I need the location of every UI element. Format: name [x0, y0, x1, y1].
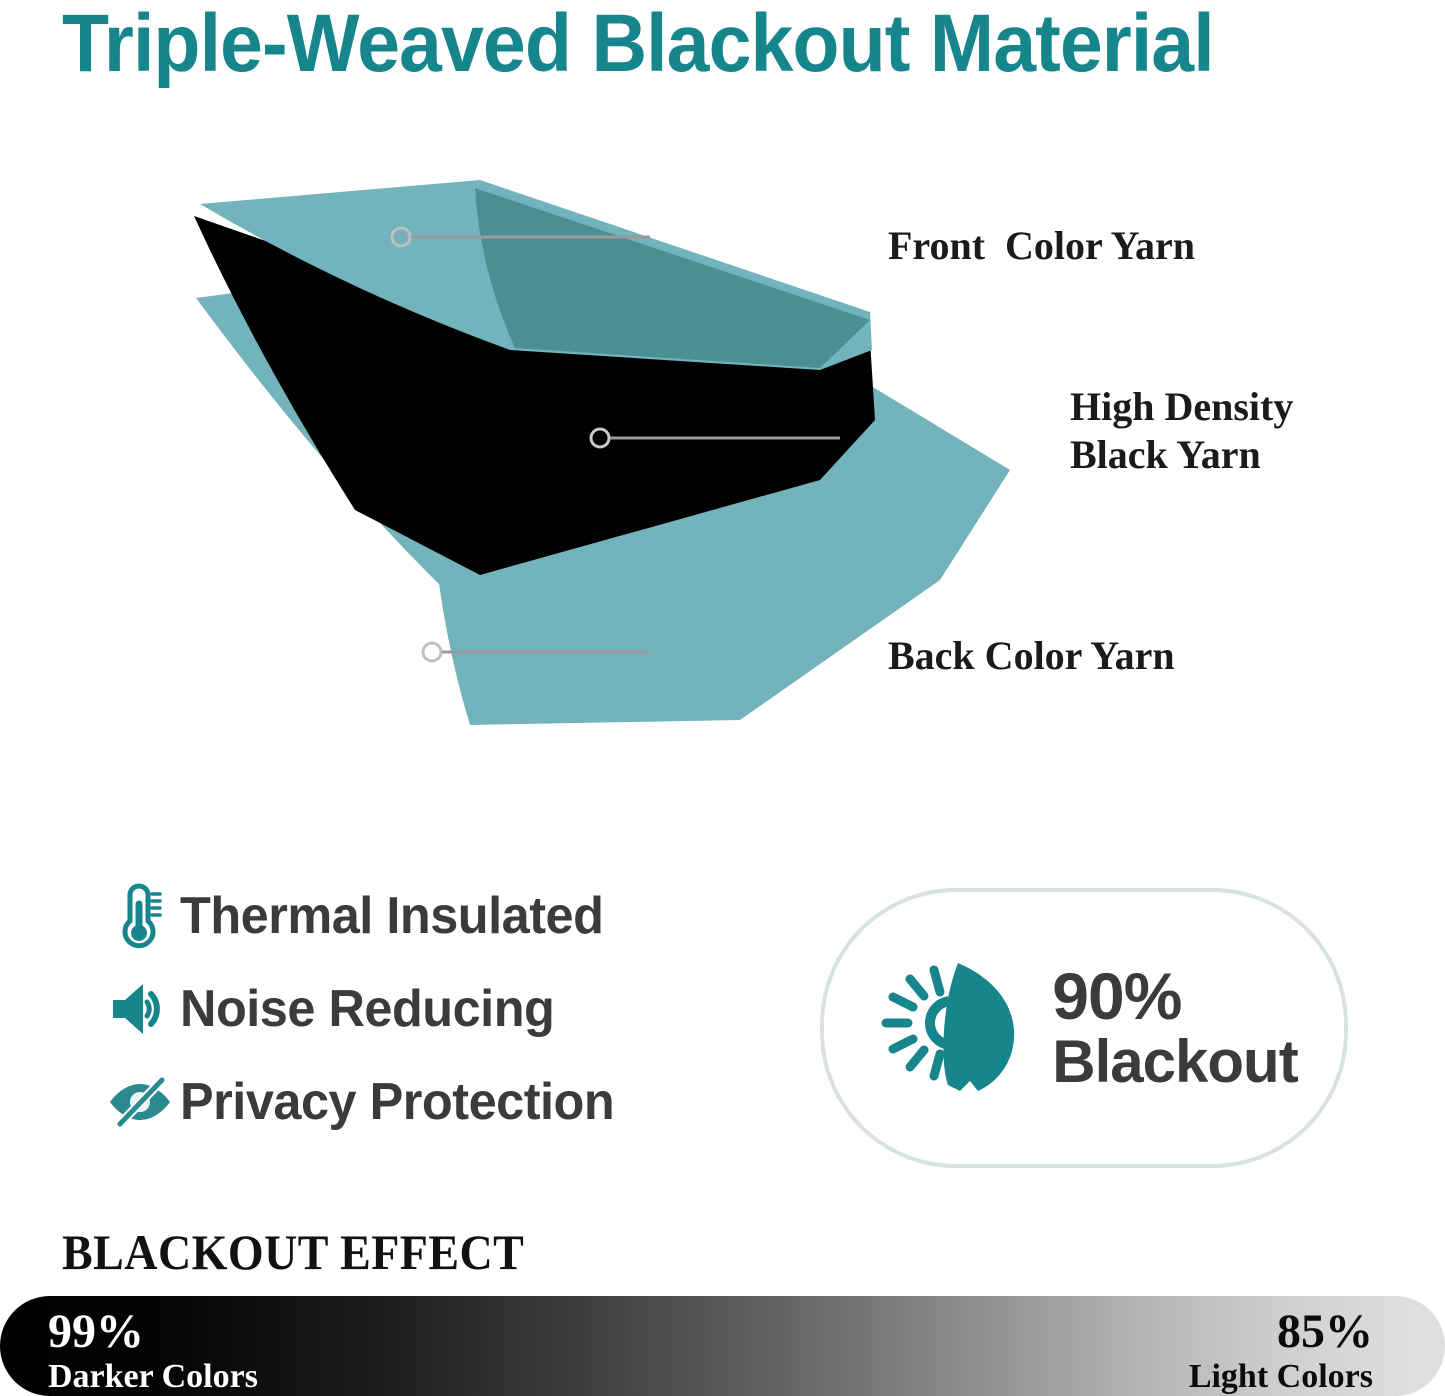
callout-label-front-color-yarn: Front Color Yarn: [888, 222, 1195, 270]
darker-colors-label: Darker Colors: [48, 1358, 258, 1396]
badge-text-block: 90% Blackout: [1052, 962, 1297, 1094]
feature-item-noise-reducing: Noise Reducing: [100, 965, 760, 1053]
badge-word: Blackout: [1052, 1030, 1297, 1094]
gradient-bar-right-stat: 85% Light Colors: [1189, 1306, 1373, 1396]
feature-list: Thermal Insulated Noise Reducing: [100, 872, 760, 1151]
feature-item-privacy-protection: Privacy Protection: [100, 1058, 760, 1146]
gradient-bar-left-stat: 99% Darker Colors: [48, 1306, 258, 1396]
light-colors-label: Light Colors: [1189, 1358, 1373, 1396]
feature-label: Thermal Insulated: [180, 887, 603, 945]
badge-percent: 90%: [1052, 962, 1297, 1030]
callout-label-high-density-black-yarn: High Density Black Yarn: [1070, 383, 1293, 479]
blackout-badge: 90% Blackout: [820, 888, 1348, 1168]
darker-colors-percent: 99%: [48, 1306, 258, 1358]
infographic-page: Triple-Weaved Blackout Material: [0, 0, 1445, 1396]
callout-label-back-color-yarn: Back Color Yarn: [888, 632, 1175, 680]
thermometer-icon: [100, 880, 180, 952]
eye-slash-icon: [100, 1066, 180, 1138]
front-color-yarn-fold-shadow: [475, 188, 870, 368]
feature-label: Privacy Protection: [180, 1073, 614, 1131]
speaker-icon: [100, 973, 180, 1045]
sun-curtain-icon: [870, 948, 1030, 1108]
light-colors-percent: 85%: [1189, 1306, 1373, 1358]
page-title: Triple-Weaved Blackout Material: [62, 0, 1312, 90]
blackout-effect-heading: BLACKOUT EFFECT: [62, 1224, 524, 1280]
feature-label: Noise Reducing: [180, 980, 554, 1038]
feature-item-thermal-insulated: Thermal Insulated: [100, 872, 760, 960]
